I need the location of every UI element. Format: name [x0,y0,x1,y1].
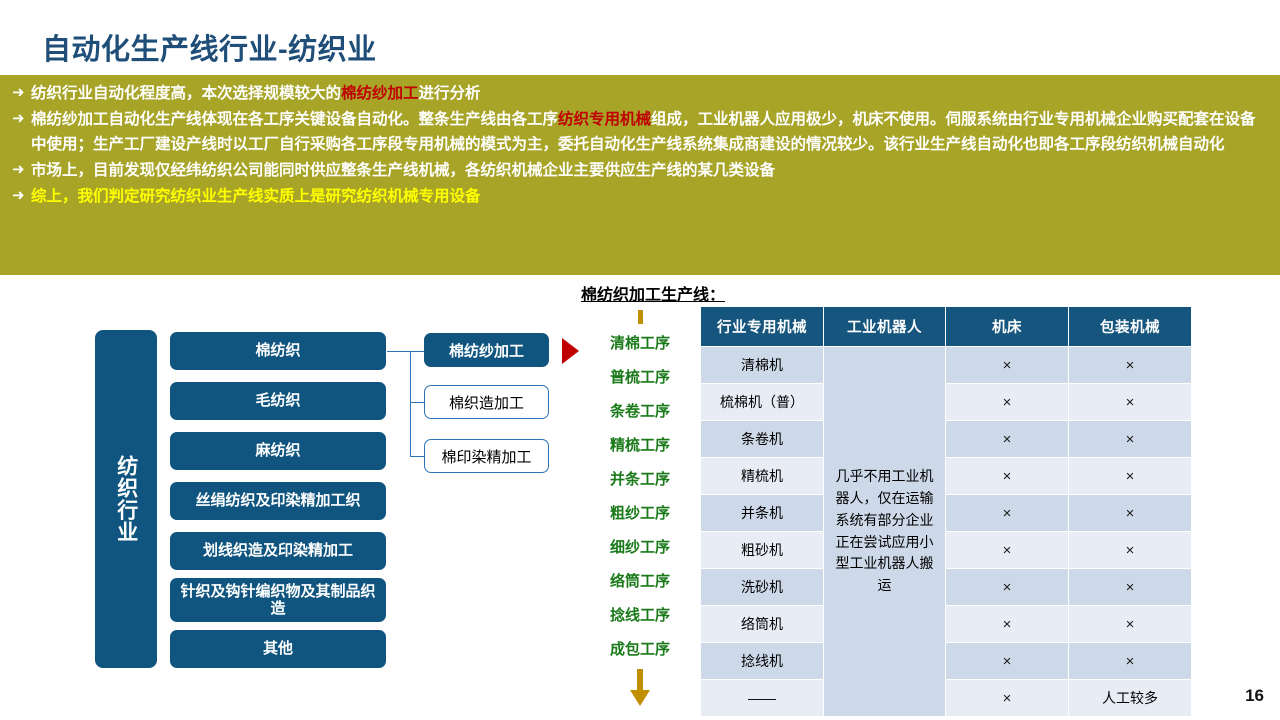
table-row: 清棉机几乎不用工业机器人，仅在运输系统有部分企业正在尝试应用小型工业机器人搬运×… [701,347,1192,384]
arrow-right-icon: ➜ [12,184,31,208]
flowchart-connector-line [410,351,411,457]
table-cell-machine: 络筒机 [701,606,824,643]
flowchart-root-node: 纺织行业 [95,330,157,668]
table-row: 捻线机×× [701,643,1192,680]
bullet-segment: 纺织行业自动化程度高，本次选择规模较大的 [31,85,341,102]
cross-mark-icon: × [1126,357,1135,374]
flowchart-sub-label: 棉印染精加工 [441,446,531,467]
process-machinery-table: 行业专用机械 工业机器人 机床 包装机械 清棉机几乎不用工业机器人，仅在运输系统… [700,306,1192,717]
pipeline-step-list: 清棉工序普梳工序条卷工序精梳工序并条工序粗纱工序细纱工序络筒工序捻线工序成包工序 [586,327,694,667]
table-cell-packaging: × [1069,458,1192,495]
cross-mark-icon: × [1126,579,1135,596]
flowchart-category-label: 其他 [263,640,293,657]
table-cell-machine: 梳棉机（普） [701,384,824,421]
cross-mark-icon: × [1126,542,1135,559]
pipeline-step: 清棉工序 [586,327,694,361]
table-cell-packaging: × [1069,643,1192,680]
table-cell-machine-tool: × [946,569,1069,606]
bullet-segment-highlight: 棉纺纱加工 [341,85,419,102]
bullet-segment: 进行分析 [419,85,481,102]
cross-mark-icon: × [1003,690,1012,707]
table-cell-packaging: × [1069,384,1192,421]
bullet-segment: 棉纺纱加工自动化生产线体现在各工序关键设备自动化。整条生产线由各工序 [31,111,558,128]
table-cell-machine: 清棉机 [701,347,824,384]
bullet-segment-highlight: 纺织专用机械 [558,111,651,128]
flowchart-category-node[interactable]: 麻纺织 [170,432,386,470]
pipeline-steps-column: 清棉工序普梳工序条卷工序精梳工序并条工序粗纱工序细纱工序络筒工序捻线工序成包工序 [586,310,694,711]
summary-banner: ➜纺织行业自动化程度高，本次选择规模较大的棉纺纱加工进行分析➜棉纺纱加工自动化生… [0,75,1280,275]
flowchart-sub-label: 棉纺纱加工 [449,340,524,361]
arrow-right-icon: ➜ [12,158,31,182]
banner-bullet-list: ➜纺织行业自动化程度高，本次选择规模较大的棉纺纱加工进行分析➜棉纺纱加工自动化生… [12,81,1262,210]
table-cell-machine-tool: × [946,643,1069,680]
banner-bullet-text: 纺织行业自动化程度高，本次选择规模较大的棉纺纱加工进行分析 [31,81,1262,106]
table-cell-machine: 捻线机 [701,643,824,680]
pipeline-step: 条卷工序 [586,395,694,429]
cross-mark-icon: × [1003,542,1012,559]
cross-mark-icon: × [1126,468,1135,485]
table-header-cell: 机床 [946,307,1069,347]
pipeline-step: 并条工序 [586,463,694,497]
table-cell-machine: 并条机 [701,495,824,532]
cross-mark-icon: × [1126,431,1135,448]
cross-mark-icon: × [1126,653,1135,670]
flowchart-sub-node[interactable]: 棉织造加工 [424,385,549,419]
cross-mark-icon: × [1126,616,1135,633]
table-header-cell: 行业专用机械 [701,307,824,347]
arrow-right-icon: ➜ [12,81,31,105]
pipeline-step: 细纱工序 [586,531,694,565]
table-cell-robot-note: 几乎不用工业机器人，仅在运输系统有部分企业正在尝试应用小型工业机器人搬运 [824,347,946,717]
pipeline-step: 粗纱工序 [586,497,694,531]
flowchart-root-label: 纺织行业 [113,455,139,543]
banner-bullet: ➜综上，我们判定研究纺织业生产线实质上是研究纺织机械专用设备 [12,184,1262,209]
table-cell-machine: 洗砂机 [701,569,824,606]
table-cell-machine-tool: × [946,495,1069,532]
flowchart-category-node[interactable]: 划线织造及印染精加工 [170,532,386,570]
table-cell-machine-tool: × [946,606,1069,643]
cross-mark-icon: × [1126,505,1135,522]
pipeline-step: 成包工序 [586,633,694,667]
pipeline-step: 普梳工序 [586,361,694,395]
cross-mark-icon: × [1003,357,1012,374]
flowchart-category-node[interactable]: 棉纺织 [170,332,386,370]
cross-mark-icon: × [1126,394,1135,411]
cross-mark-icon: × [1003,505,1012,522]
table-row: 粗砂机×× [701,532,1192,569]
cross-mark-icon: × [1003,468,1012,485]
red-triangle-pointer-icon [562,338,579,364]
flowchart-connector-line [410,456,424,457]
table-cell-machine-tool: × [946,458,1069,495]
flowchart-connector-line [387,351,411,352]
banner-bullet: ➜棉纺纱加工自动化生产线体现在各工序关键设备自动化。整条生产线由各工序纺织专用机… [12,107,1262,157]
table-cell-machine: 精梳机 [701,458,824,495]
flowchart-category-label: 划线织造及印染精加工 [203,542,353,559]
cross-mark-icon: × [1003,616,1012,633]
cross-mark-icon: × [1003,579,1012,596]
flowchart-sub-node[interactable]: 棉印染精加工 [424,439,549,473]
table-cell-packaging: × [1069,606,1192,643]
table-cell-machine-tool: × [946,680,1069,717]
table-cell-packaging: × [1069,495,1192,532]
table-cell-machine-tool: × [946,532,1069,569]
table-header-cell: 工业机器人 [824,307,946,347]
pipeline-title: 棉纺织加工生产线： [581,281,725,305]
table-row: 条卷机×× [701,421,1192,458]
cross-mark-icon: × [1003,431,1012,448]
table-header-row: 行业专用机械 工业机器人 机床 包装机械 [701,307,1192,347]
flowchart-category-label: 棉纺织 [255,342,300,359]
pipeline-step: 精梳工序 [586,429,694,463]
flowchart-category-node[interactable]: 毛纺织 [170,382,386,420]
cross-mark-icon: × [1003,653,1012,670]
banner-bullet-text: 棉纺纱加工自动化生产线体现在各工序关键设备自动化。整条生产线由各工序纺织专用机械… [31,107,1262,157]
flowchart-category-label: 麻纺织 [255,442,300,459]
table-row: 络筒机×× [701,606,1192,643]
table-row: 梳棉机（普）×× [701,384,1192,421]
flowchart-sub-node[interactable]: 棉纺纱加工 [424,333,549,367]
table-cell-packaging: × [1069,569,1192,606]
page-number: 16 [1245,686,1264,706]
table-row: 并条机×× [701,495,1192,532]
arrow-right-icon: ➜ [12,107,31,131]
table-cell-packaging: 人工较多 [1069,680,1192,717]
flowchart-category-node[interactable]: 丝绢纺织及印染精加工织 [170,482,386,520]
banner-bullet-text: 市场上，目前发现仅经纬纺织公司能同时供应整条生产线机械，各纺织机械企业主要供应生… [31,158,1262,183]
banner-bullet: ➜市场上，目前发现仅经纬纺织公司能同时供应整条生产线机械，各纺织机械企业主要供应… [12,158,1262,183]
pipeline-step: 络筒工序 [586,565,694,599]
table-cell-machine-tool: × [946,347,1069,384]
bullet-segment-highlight: 综上，我们判定研究纺织业生产线实质上是研究纺织机械专用设备 [31,188,481,205]
bullet-segment: 市场上，目前发现仅经纬纺织公司能同时供应整条生产线机械，各纺织机械企业主要供应生… [31,162,775,179]
table-cell-packaging: × [1069,347,1192,384]
pipeline-step: 捻线工序 [586,599,694,633]
table-cell-machine: 粗砂机 [701,532,824,569]
page-title: 自动化生产线行业-纺织业 [42,26,377,68]
table-row: 精梳机×× [701,458,1192,495]
banner-bullet-text: 综上，我们判定研究纺织业生产线实质上是研究纺织机械专用设备 [31,184,1262,209]
flowchart-connector-line [410,351,424,352]
flowchart-category-label: 丝绢纺织及印染精加工织 [195,492,360,509]
table-row: ——×人工较多 [701,680,1192,717]
flowchart-category-label: 针织及钩针编织物及其制品织造 [176,583,380,618]
table-cell-machine-tool: × [946,421,1069,458]
table-cell-machine: 条卷机 [701,421,824,458]
flowchart-connector-line [410,402,424,403]
flowchart-category-node[interactable]: 其他 [170,630,386,668]
gold-down-arrow-icon [586,669,694,711]
table-cell-machine: —— [701,680,824,717]
table-row: 洗砂机×× [701,569,1192,606]
flowchart-sub-label: 棉织造加工 [449,392,524,413]
flowchart-category-label: 毛纺织 [255,392,300,409]
cross-mark-icon: × [1003,394,1012,411]
table-cell-packaging: × [1069,532,1192,569]
banner-bullet: ➜纺织行业自动化程度高，本次选择规模较大的棉纺纱加工进行分析 [12,81,1262,106]
table-cell-packaging: × [1069,421,1192,458]
table-header-cell: 包装机械 [1069,307,1192,347]
table-cell-machine-tool: × [946,384,1069,421]
gold-tick-icon [638,310,643,324]
flowchart-category-node[interactable]: 针织及钩针编织物及其制品织造 [170,578,386,622]
